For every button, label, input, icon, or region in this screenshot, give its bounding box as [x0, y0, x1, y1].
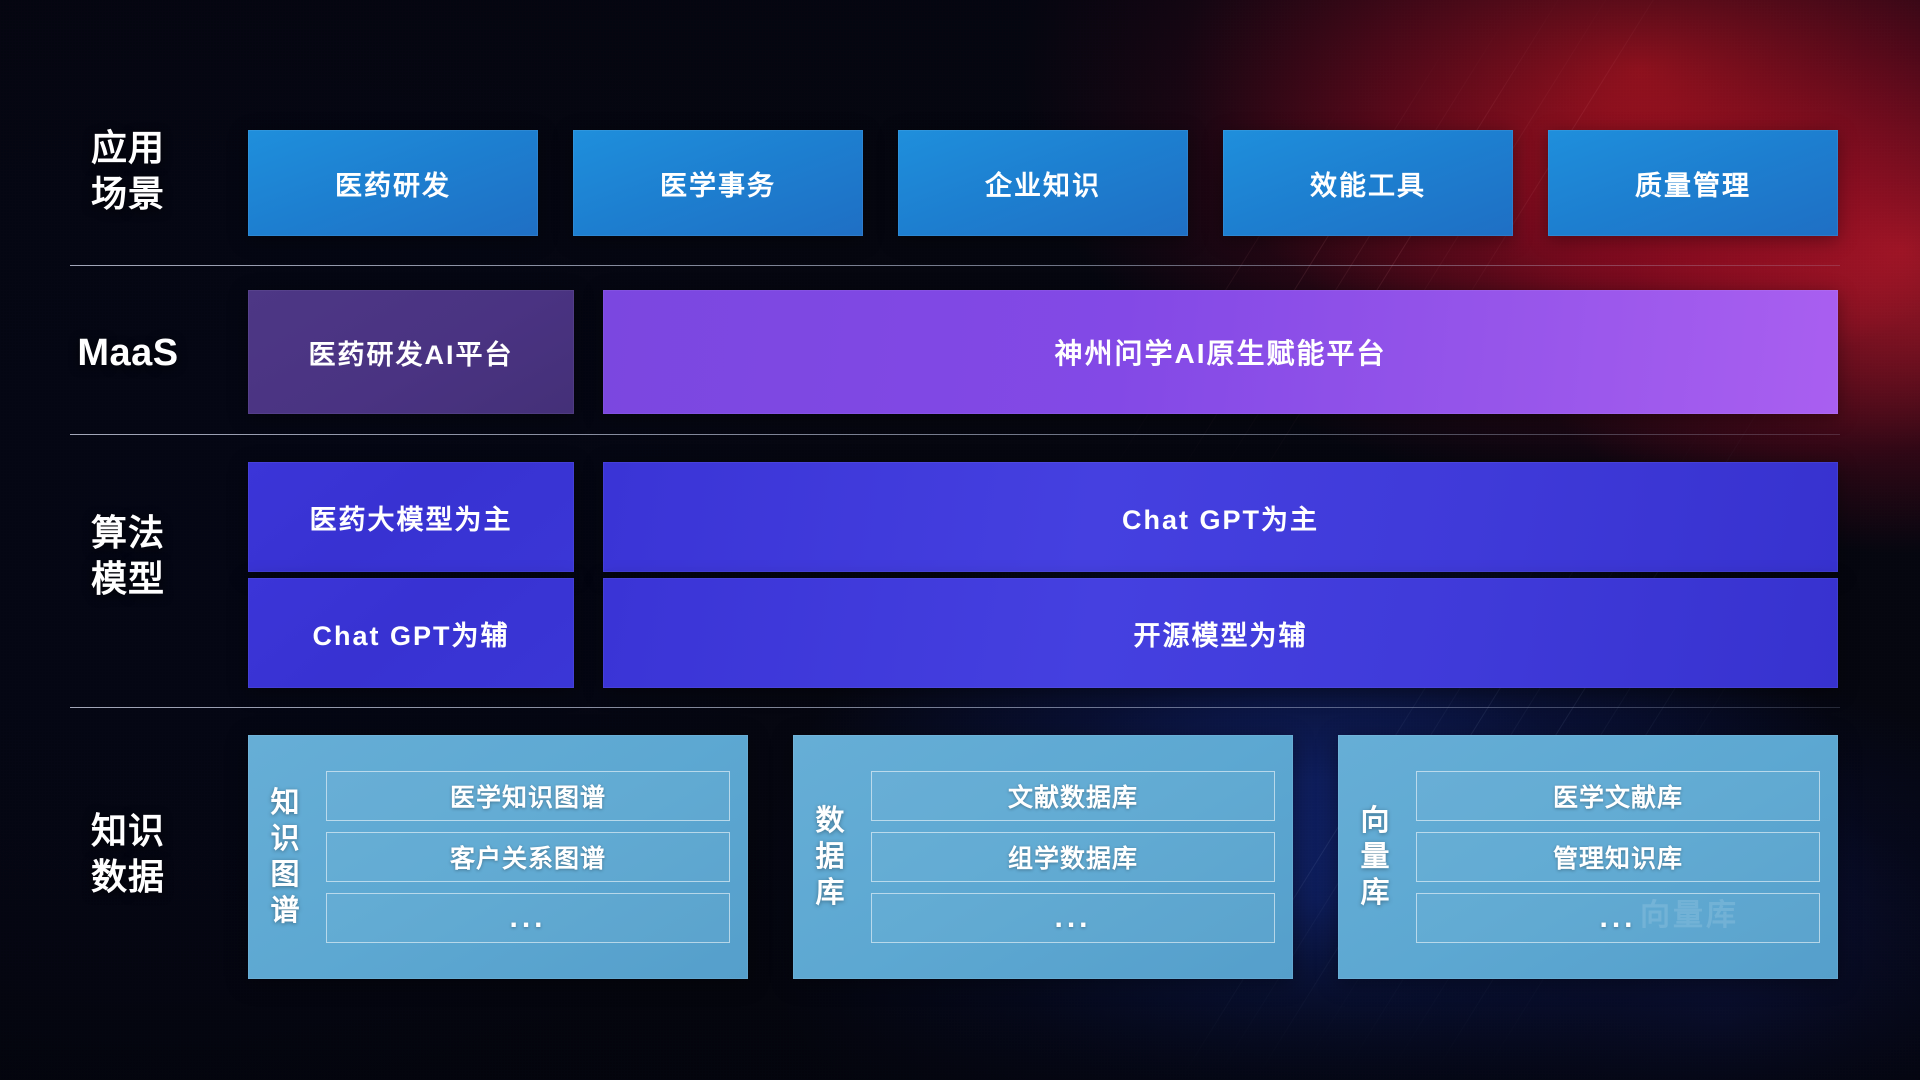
knowledge-panel-3-items: 医学文献库 管理知识库 ... — [1412, 757, 1838, 957]
divider-maas-algorithm — [70, 434, 1840, 435]
knowledge-item-literature-db[interactable]: 文献数据库 — [871, 771, 1275, 821]
app-box-5[interactable]: 质量管理 — [1548, 130, 1838, 236]
app-box-1-label: 医药研发 — [335, 164, 451, 203]
knowledge-panel-2-title-char-2: 据 — [797, 839, 863, 875]
algo-box-row1-right[interactable]: Chat GPT为主 — [603, 462, 1838, 572]
knowledge-item-omics-db[interactable]: 组学数据库 — [871, 832, 1275, 882]
app-box-3-label: 企业知识 — [985, 164, 1101, 203]
maas-box-pharma-ai-platform[interactable]: 医药研发AI平台 — [248, 290, 574, 414]
knowledge-panel-3-title: 向 量 库 — [1338, 803, 1412, 911]
knowledge-panel-2-title-char-1: 数 — [797, 803, 863, 839]
algo-box-row1-left-label: 医药大模型为主 — [310, 498, 513, 537]
algo-box-row2-right-label: 开源模型为辅 — [1134, 614, 1308, 653]
knowledge-panel-vector-db[interactable]: 向 量 库 医学文献库 管理知识库 ... — [1338, 735, 1838, 979]
maas-box-pharma-ai-platform-label: 医药研发AI平台 — [309, 333, 514, 372]
knowledge-panel-1-title-char-3: 图 — [252, 857, 318, 893]
knowledge-panel-database[interactable]: 数 据 库 文献数据库 组学数据库 ... — [793, 735, 1293, 979]
divider-application-maas — [70, 265, 1840, 266]
knowledge-panel-1-title-char-4: 谱 — [252, 893, 318, 929]
knowledge-panel-2-title-char-3: 库 — [797, 875, 863, 911]
knowledge-panel-1-items: 医学知识图谱 客户关系图谱 ... — [322, 757, 748, 957]
app-box-3[interactable]: 企业知识 — [898, 130, 1188, 236]
knowledge-panel-3-title-char-2: 量 — [1342, 839, 1408, 875]
knowledge-panel-knowledge-graph[interactable]: 知 识 图 谱 医学知识图谱 客户关系图谱 ... — [248, 735, 748, 979]
app-box-4[interactable]: 效能工具 — [1223, 130, 1513, 236]
knowledge-item-customer-kg[interactable]: 客户关系图谱 — [326, 832, 730, 882]
app-box-5-label: 质量管理 — [1635, 164, 1751, 203]
app-box-4-label: 效能工具 — [1310, 164, 1426, 203]
app-box-1[interactable]: 医药研发 — [248, 130, 538, 236]
knowledge-panel-1-title-char-2: 识 — [252, 821, 318, 857]
architecture-diagram: 应用 场景 医药研发 医学事务 企业知识 效能工具 质量管理 MaaS 医药研发… — [0, 0, 1920, 1080]
algo-box-row2-right[interactable]: 开源模型为辅 — [603, 578, 1838, 688]
algo-box-row2-left-label: Chat GPT为辅 — [312, 614, 509, 653]
knowledge-panel-2-title: 数 据 库 — [793, 803, 867, 911]
knowledge-item-management-kb[interactable]: 管理知识库 — [1416, 832, 1820, 882]
maas-box-shenzhou-ai-platform-label: 神州问学AI原生赋能平台 — [1054, 332, 1386, 372]
algo-box-row1-left[interactable]: 医药大模型为主 — [248, 462, 574, 572]
knowledge-panel-2-items: 文献数据库 组学数据库 ... — [867, 757, 1293, 957]
knowledge-item-medical-literature[interactable]: 医学文献库 — [1416, 771, 1820, 821]
knowledge-item-more-3[interactable]: ... — [1416, 893, 1820, 943]
knowledge-panel-1-title-char-1: 知 — [252, 785, 318, 821]
layer-label-application: 应用 场景 — [48, 125, 208, 217]
app-box-2[interactable]: 医学事务 — [573, 130, 863, 236]
knowledge-item-more-2[interactable]: ... — [871, 893, 1275, 943]
layer-label-maas: MaaS — [48, 330, 208, 376]
algo-box-row1-right-label: Chat GPT为主 — [1122, 498, 1319, 537]
knowledge-item-more-1[interactable]: ... — [326, 893, 730, 943]
knowledge-panel-3-title-char-1: 向 — [1342, 803, 1408, 839]
maas-box-shenzhou-ai-platform[interactable]: 神州问学AI原生赋能平台 — [603, 290, 1838, 414]
algo-box-row2-left[interactable]: Chat GPT为辅 — [248, 578, 574, 688]
divider-algorithm-knowledge — [70, 707, 1840, 708]
layer-label-algorithm: 算法 模型 — [48, 510, 208, 602]
knowledge-panel-1-title: 知 识 图 谱 — [248, 785, 322, 929]
knowledge-panel-3-title-char-3: 库 — [1342, 875, 1408, 911]
app-box-2-label: 医学事务 — [660, 164, 776, 203]
knowledge-item-medical-kg[interactable]: 医学知识图谱 — [326, 771, 730, 821]
layer-label-knowledge: 知识 数据 — [48, 808, 208, 900]
